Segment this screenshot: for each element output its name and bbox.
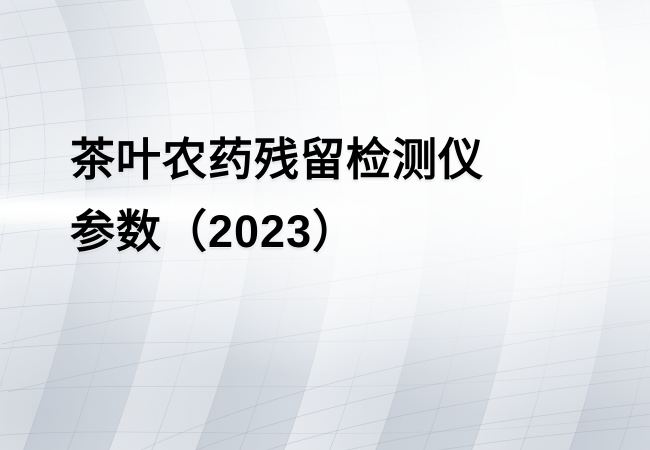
title-line-2: 参数（2023）: [70, 196, 590, 268]
title-line-1: 茶叶农药残留检测仪: [70, 124, 590, 196]
title-banner: 茶叶农药残留检测仪 参数（2023）: [0, 0, 650, 450]
page-title: 茶叶农药残留检测仪 参数（2023）: [70, 124, 590, 268]
